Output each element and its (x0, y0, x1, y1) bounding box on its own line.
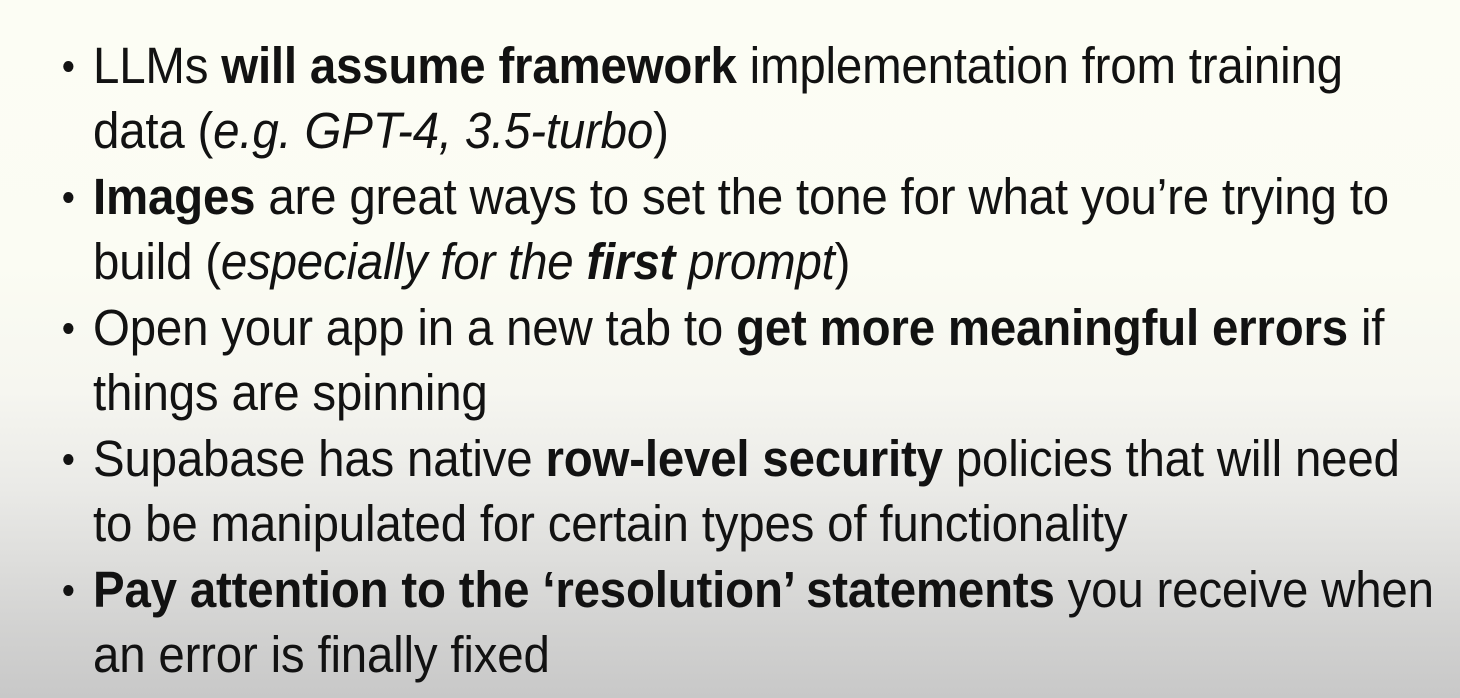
bullet-point-icon (63, 585, 73, 596)
bullet-open-app-new-tab: Open your app in a new tab to get more m… (0, 295, 1451, 425)
text-span-bold-italic: first (586, 233, 675, 290)
text-span-regular: Supabase has native (93, 430, 545, 487)
bullet-llms-assume-framework: LLMs will assume framework implementatio… (0, 33, 1451, 163)
text-span-bold: Images (93, 168, 255, 225)
bullet-text: LLMs will assume framework implementatio… (93, 33, 1436, 163)
bullet-text: Supabase has native row-level security p… (93, 426, 1436, 556)
bullet-point-icon (63, 323, 73, 334)
bullet-text: Images are great ways to set the tone fo… (93, 164, 1436, 294)
bullet-point-icon (63, 454, 73, 465)
text-span-bold: will assume framework (221, 37, 736, 94)
text-span-regular: ) (835, 233, 851, 290)
text-span-italic: especially for the (221, 233, 587, 290)
text-span-regular: Open your app in a new tab to (93, 299, 736, 356)
bullet-list: LLMs will assume framework implementatio… (0, 33, 1460, 688)
bullet-point-icon (63, 192, 73, 203)
bullet-text: Pay attention to the ‘resolution’ statem… (93, 557, 1436, 687)
bullet-resolution-statements: Pay attention to the ‘resolution’ statem… (0, 557, 1451, 687)
bullet-images-set-tone: Images are great ways to set the tone fo… (0, 164, 1451, 294)
text-span-regular: ) (653, 102, 669, 159)
slide-canvas: LLMs will assume framework implementatio… (0, 0, 1460, 698)
text-span-regular: LLMs (93, 37, 221, 94)
text-span-bold: get more meaningful errors (736, 299, 1348, 356)
text-span-bold: row-level security (545, 430, 942, 487)
text-span-italic: prompt (675, 233, 834, 290)
text-span-italic: e.g. GPT-4, 3.5-turbo (213, 102, 653, 159)
bullet-text: Open your app in a new tab to get more m… (93, 295, 1436, 425)
text-span-bold: Pay attention to the ‘resolution’ statem… (93, 561, 1055, 618)
bullet-supabase-rls: Supabase has native row-level security p… (0, 426, 1451, 556)
bullet-point-icon (63, 61, 73, 72)
